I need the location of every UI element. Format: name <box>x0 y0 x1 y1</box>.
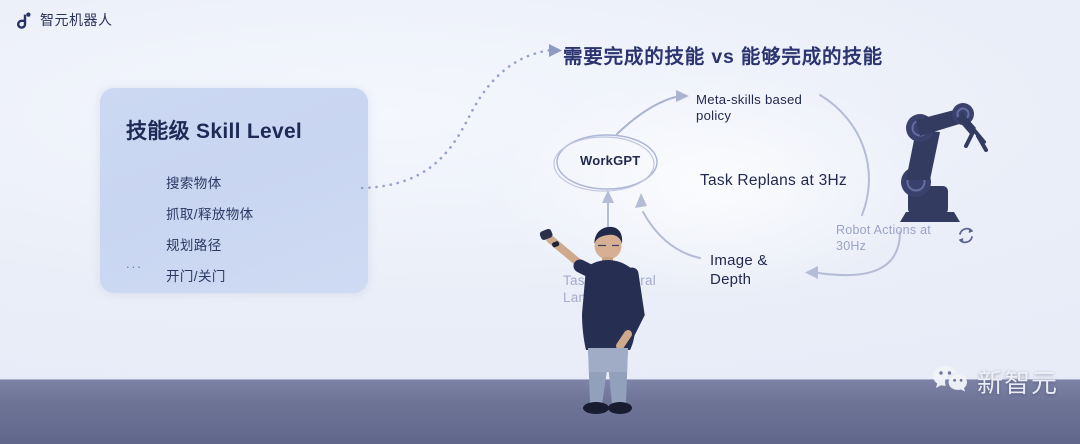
label-meta-line1: Meta-skills based <box>696 92 802 108</box>
label-robot-actions: Robot Actions at 30Hz <box>836 222 931 254</box>
label-image-depth-line2: Depth <box>710 270 768 289</box>
brand-name: 智元机器人 <box>40 10 113 30</box>
watermark-text: 新智元 <box>977 363 1058 400</box>
label-meta-skills-policy: Meta-skills based policy <box>696 92 802 124</box>
list-item: 开门/关门 <box>166 265 254 285</box>
wechat-icon <box>932 364 968 399</box>
label-workgpt: WorkGPT <box>580 153 640 169</box>
presenter-pointing-icon <box>528 222 668 422</box>
list-item: 规划路径 <box>166 234 254 254</box>
brand-logo: 智元机器人 <box>14 10 113 30</box>
label-robot-actions-line1: Robot Actions at <box>836 222 931 238</box>
skill-level-card: 技能级 Skill Level 搜索物体 抓取/释放物体 规划路径 开门/关门 … <box>100 88 368 293</box>
page-title: 需要完成的技能 vs 能够完成的技能 <box>563 40 883 69</box>
label-task-replans: Task Replans at 3Hz <box>700 173 847 189</box>
skill-card-title: 技能级 Skill Level <box>126 115 302 145</box>
list-item: 搜索物体 <box>166 172 254 192</box>
skill-card-list: 搜索物体 抓取/释放物体 规划路径 开门/关门 <box>126 172 254 296</box>
list-item: 抓取/释放物体 <box>166 203 254 223</box>
label-robot-actions-line2: 30Hz <box>836 238 931 254</box>
wechat-watermark: 新智元 <box>932 363 1058 400</box>
label-meta-line2: policy <box>696 108 802 124</box>
label-image-depth: Image & Depth <box>710 251 768 289</box>
skill-card-ellipsis: ... <box>126 256 143 271</box>
zhiyuan-mark-icon <box>14 11 33 30</box>
label-image-depth-line1: Image & <box>710 251 768 270</box>
screenshot-root: 智元机器人 技能级 Skill Level 搜索物体 抓取/释放物体 规划路径 … <box>0 0 1080 444</box>
